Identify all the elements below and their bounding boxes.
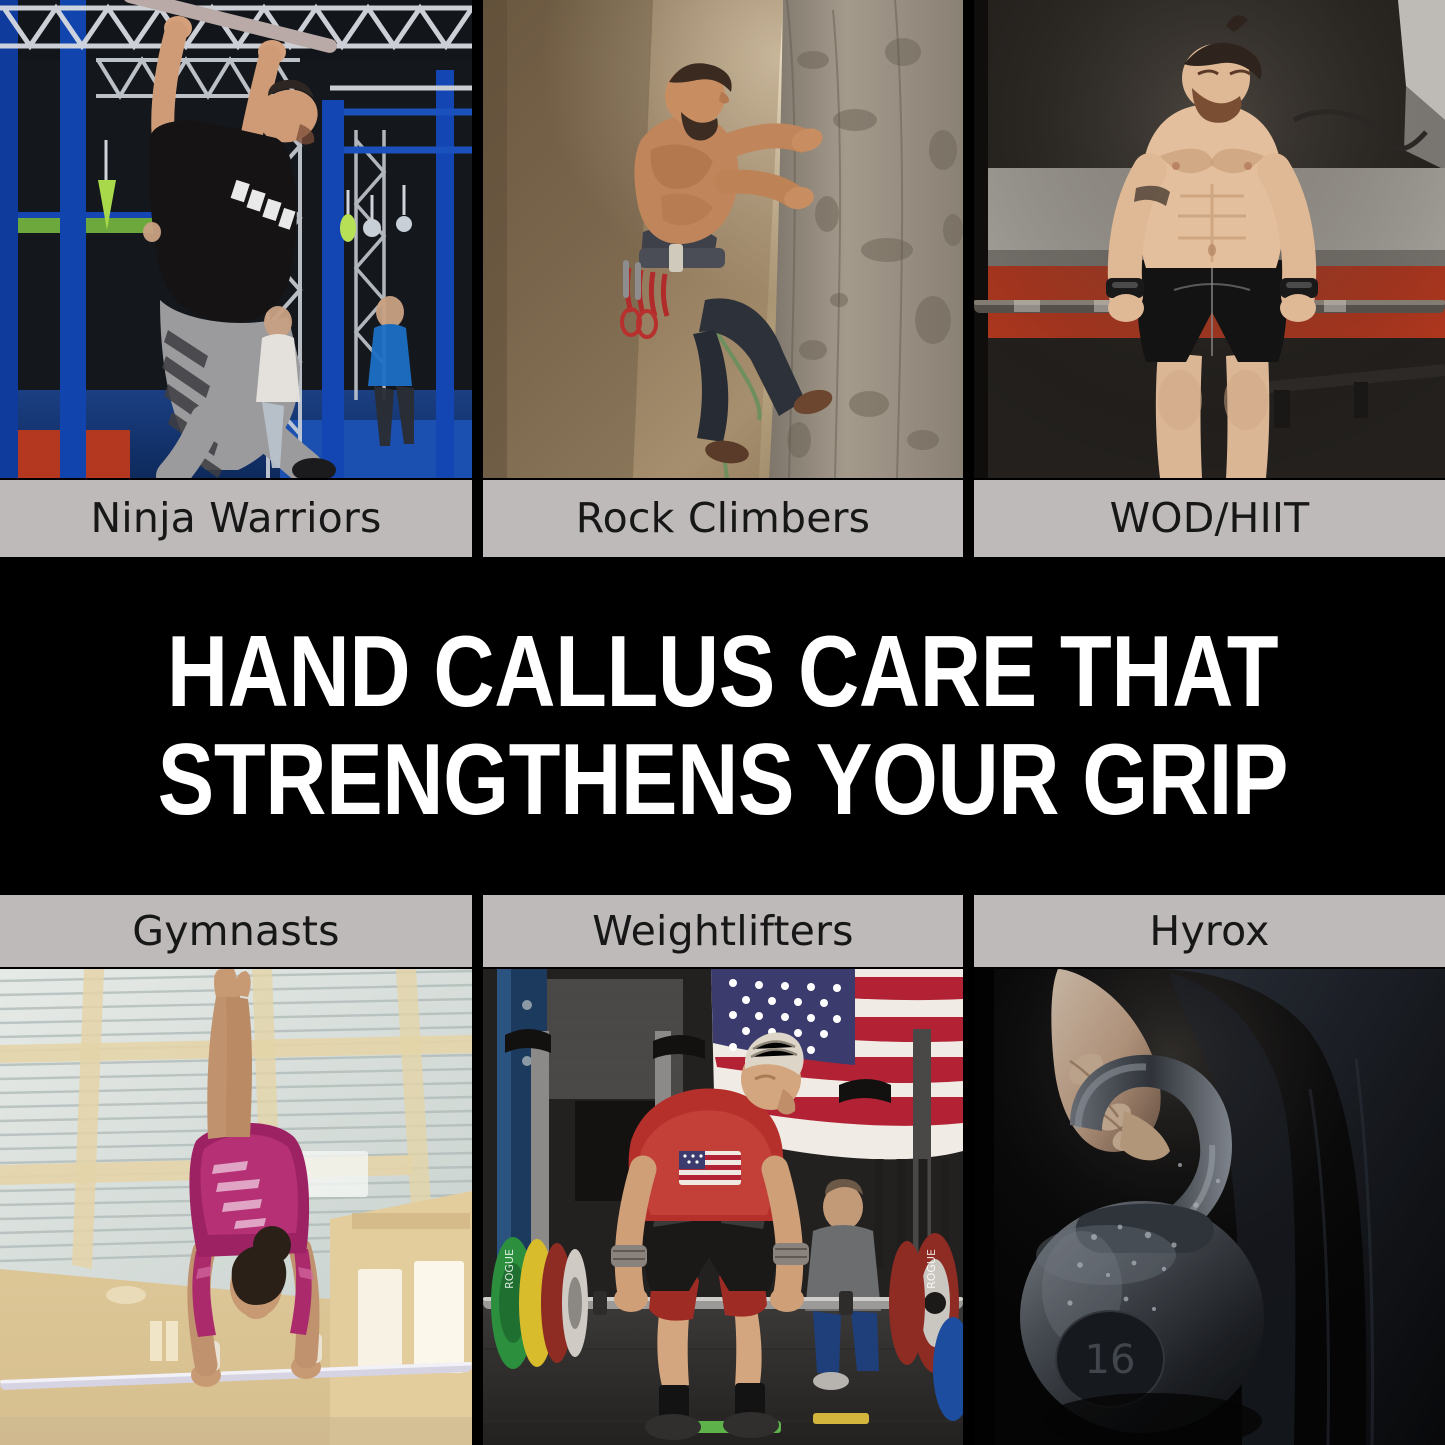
column-gutter-4 (963, 969, 974, 1445)
photo-rock-climbers (483, 0, 963, 478)
top-label-row: Ninja Warriors Rock Climbers WOD/HIIT (0, 480, 1445, 557)
top-photo-row (0, 0, 1445, 478)
label-wod-hiit: WOD/HIIT (974, 480, 1445, 557)
label-cell-ninja-warriors: Ninja Warriors (0, 480, 472, 557)
column-gutter-1 (472, 0, 483, 478)
label-weightlifters: Weightlifters (483, 895, 963, 967)
photo-hyrox: 16 (974, 969, 1445, 1445)
photo-gymnasts (0, 969, 472, 1445)
label-ninja-warriors: Ninja Warriors (0, 480, 472, 557)
label-hyrox: Hyrox (974, 895, 1445, 967)
svg-text:ROGUE: ROGUE (503, 1249, 516, 1289)
label-rock-climbers: Rock Climbers (483, 480, 963, 557)
label-gutter-4 (963, 895, 974, 967)
photo-weightlifters: ROGUE ROGUE (483, 969, 963, 1445)
label-gutter-3 (472, 895, 483, 967)
column-gutter-3 (472, 969, 483, 1445)
label-cell-rock-climbers: Rock Climbers (483, 480, 963, 557)
label-gutter-2 (963, 480, 974, 557)
promo-graphic: Ninja Warriors Rock Climbers WOD/HIIT HA… (0, 0, 1445, 1445)
svg-text:ROGUE: ROGUE (925, 1249, 938, 1289)
headline-line-2: STRENGTHENS YOUR GRIP (157, 726, 1287, 834)
label-gutter-1 (472, 480, 483, 557)
photo-ninja-warriors (0, 0, 472, 478)
headline-banner: HAND CALLUS CARE THAT STRENGTHENS YOUR G… (0, 557, 1445, 895)
bottom-photo-row: ROGUE ROGUE (0, 969, 1445, 1445)
label-cell-weightlifters: Weightlifters (483, 895, 963, 967)
label-cell-gymnasts: Gymnasts (0, 895, 472, 967)
label-cell-hyrox: Hyrox (974, 895, 1445, 967)
column-gutter-2 (963, 0, 974, 478)
headline-line-1: HAND CALLUS CARE THAT (167, 618, 1278, 726)
bottom-label-row: Gymnasts Weightlifters Hyrox (0, 895, 1445, 967)
photo-wod-hiit (974, 0, 1445, 478)
label-cell-wod-hiit: WOD/HIIT (974, 480, 1445, 557)
label-gymnasts: Gymnasts (0, 895, 472, 967)
